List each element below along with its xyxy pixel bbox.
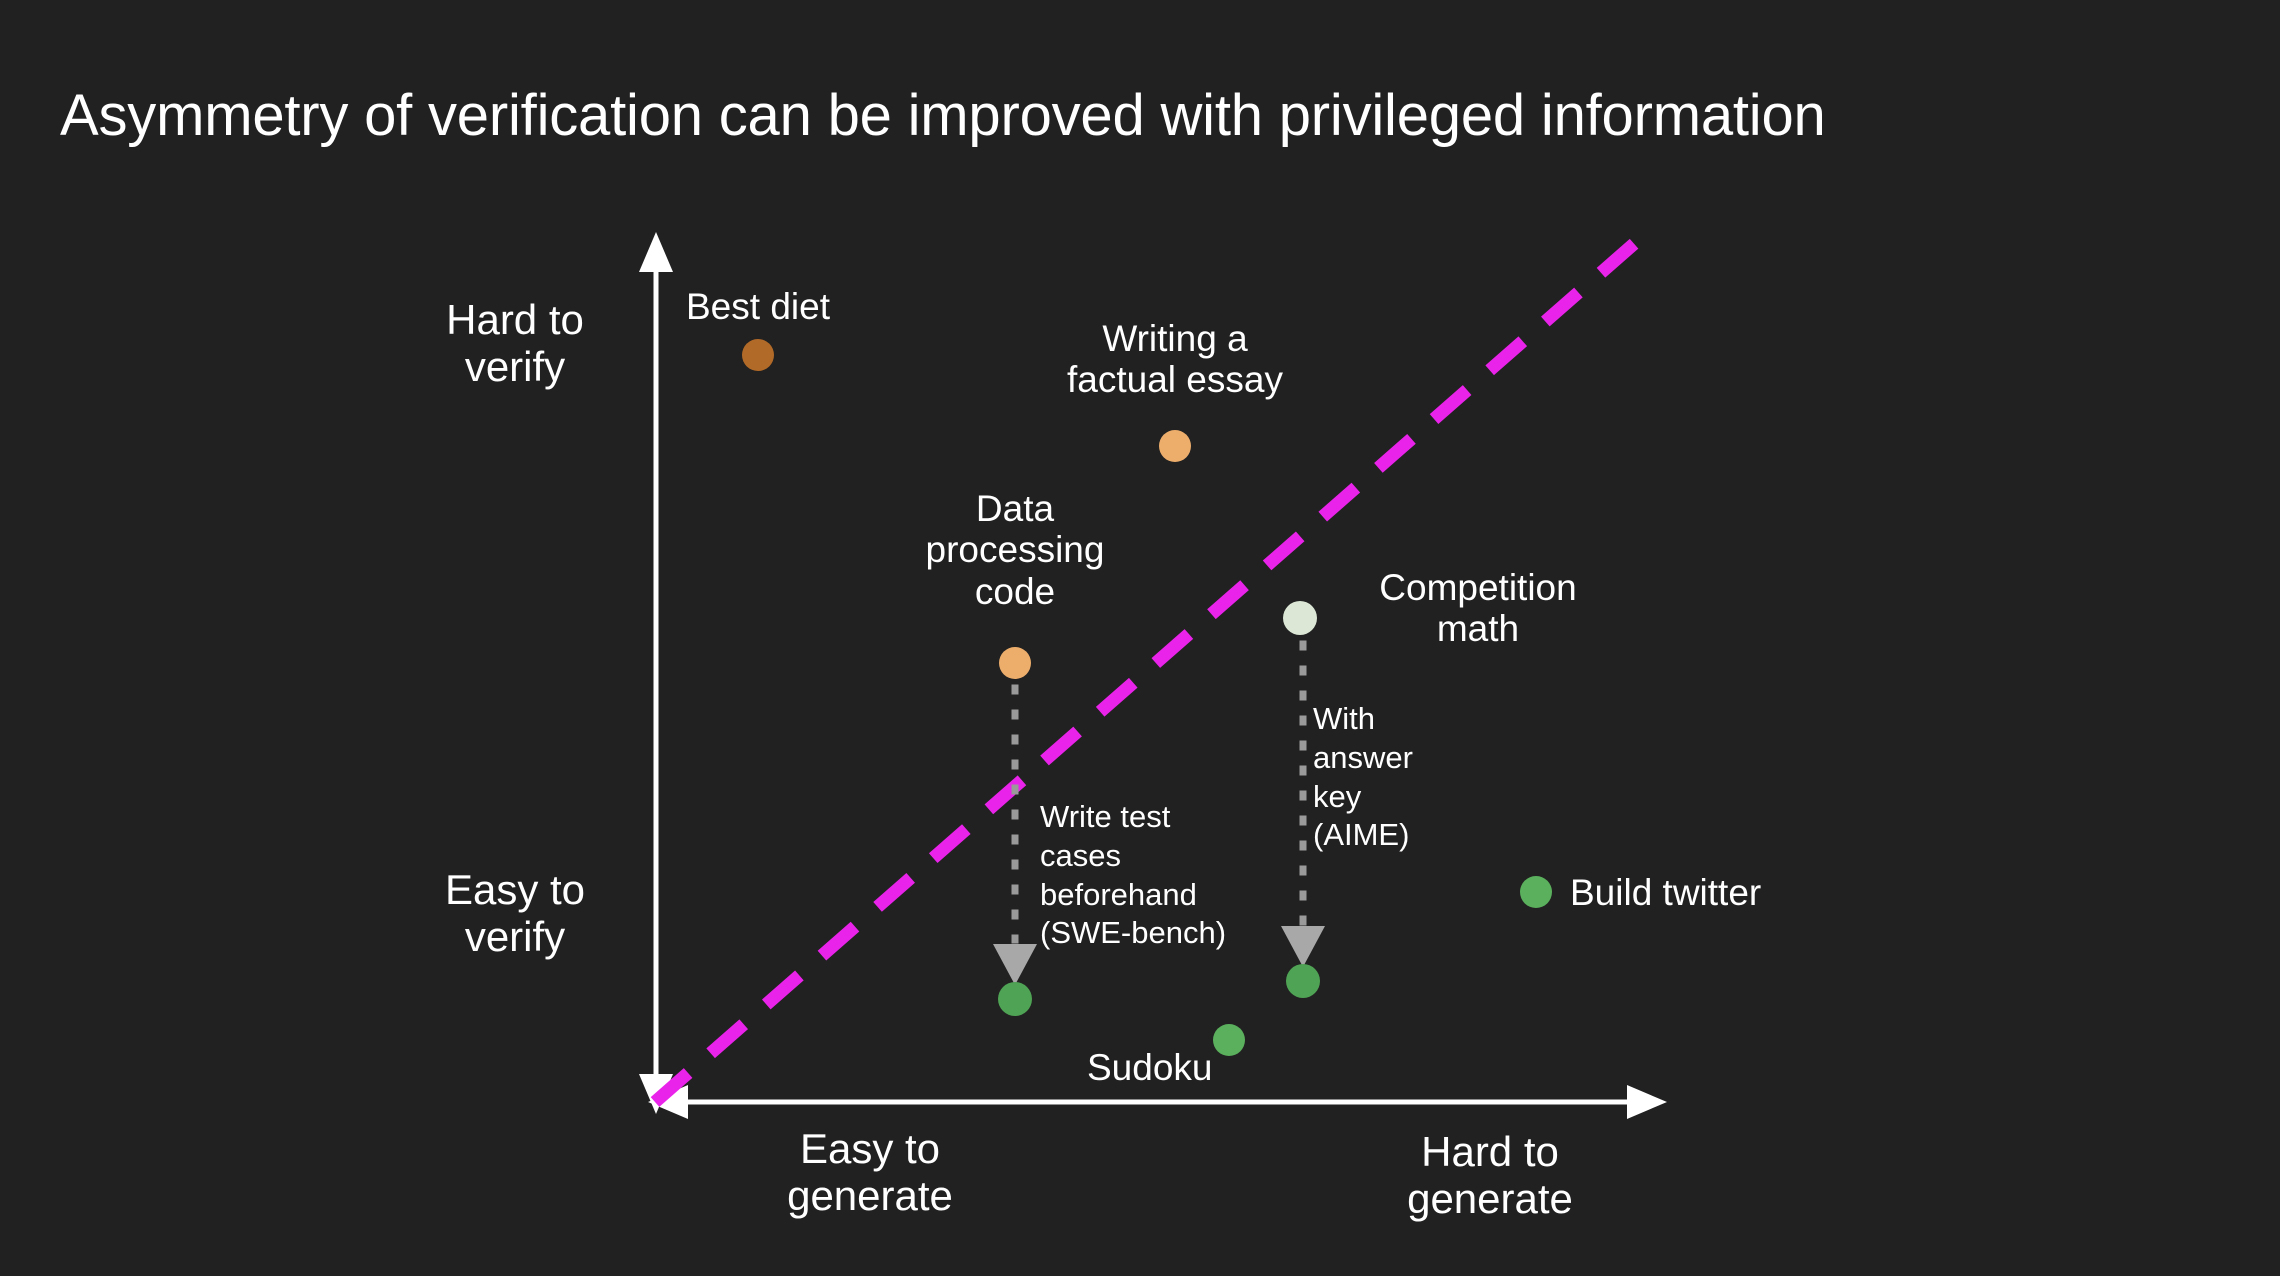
x-axis [648, 1085, 1667, 1119]
point-best-diet[interactable] [742, 339, 774, 371]
swe-bench-arrow [993, 688, 1037, 985]
axis-label-hard-to-verify: Hard to verify [395, 296, 635, 390]
point-writing-factual-essay[interactable] [1159, 430, 1191, 462]
y-axis-up-arrow-icon [639, 232, 673, 272]
slide-canvas: Asymmetry of verification can be improve… [0, 0, 2280, 1276]
annotation-aime: With answer key (AIME) [1313, 700, 1533, 855]
axis-label-easy-to-verify: Easy to verify [395, 866, 635, 960]
point-competition-math[interactable] [1283, 601, 1317, 635]
point-swe-bench[interactable] [998, 982, 1032, 1016]
annotation-swe-bench: Write test cases beforehand (SWE-bench) [1040, 798, 1300, 953]
point-aime[interactable] [1286, 964, 1320, 998]
x-axis-right-arrow-icon [1627, 1085, 1667, 1119]
arrowhead-down-icon [993, 944, 1037, 985]
axis-label-hard-to-generate: Hard to generate [1360, 1128, 1620, 1222]
y-axis [639, 232, 673, 1114]
label-best-diet: Best diet [598, 286, 918, 327]
point-data-processing-code[interactable] [999, 647, 1031, 679]
axis-label-easy-to-generate: Easy to generate [740, 1125, 1000, 1219]
label-sudoku: Sudoku [1087, 1047, 1387, 1088]
point-build-twitter[interactable] [1520, 876, 1552, 908]
label-writing-factual-essay: Writing a factual essay [1015, 318, 1335, 401]
label-competition-math: Competition math [1318, 567, 1638, 650]
label-build-twitter: Build twitter [1570, 872, 1930, 913]
label-data-processing-code: Data processing code [855, 488, 1175, 612]
